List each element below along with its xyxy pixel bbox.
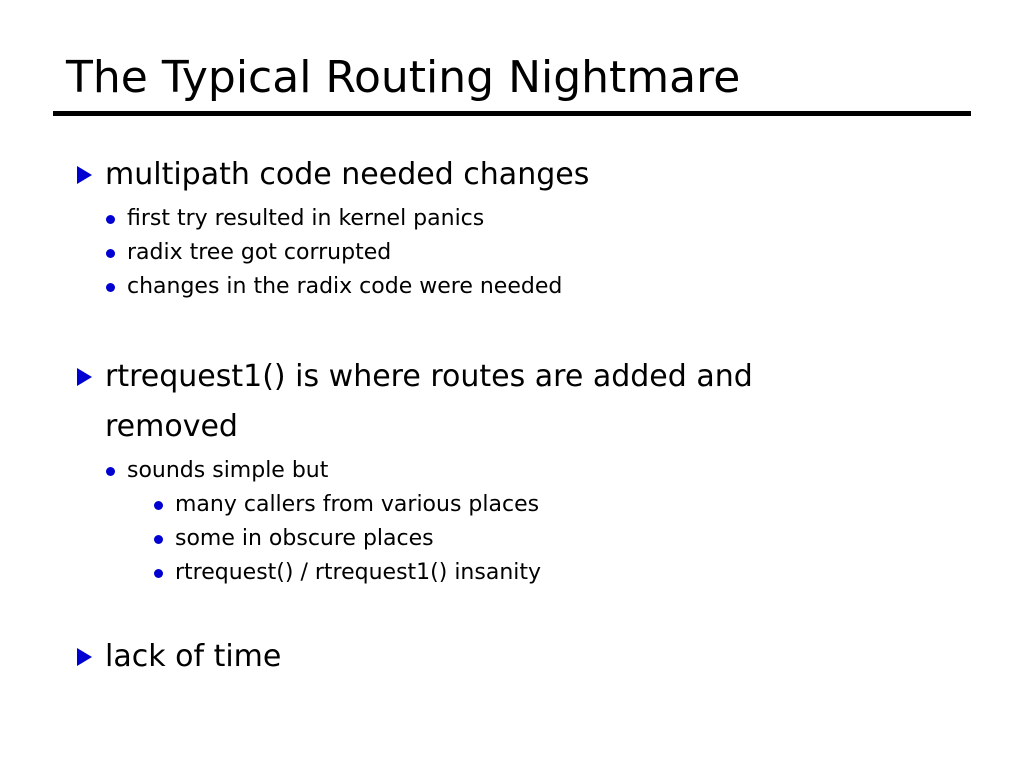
dot-bullet-icon (106, 215, 115, 224)
bullet-block: rtrequest1() is where routes are added a… (0, 352, 1024, 590)
triangle-right-bullet-icon (77, 648, 92, 666)
bullet-level2-label: radix tree got corrupted (127, 240, 391, 265)
bullet-level2: changes in the radix code were needed (0, 270, 1024, 304)
triangle-right-bullet-icon (77, 368, 92, 386)
bullet-level2: radix tree got corrupted (0, 236, 1024, 270)
bullet-level2-label: changes in the radix code were needed (127, 274, 562, 299)
bullet-level2: first try resulted in kernel panics (0, 202, 1024, 236)
dot-bullet-icon (154, 501, 163, 510)
bullet-level1-label: rtrequest1() is where routes are added a… (105, 352, 865, 452)
bullet-sublist: sounds simple but many callers from vari… (0, 454, 1024, 590)
page-title: The Typical Routing Nightmare (66, 50, 740, 106)
block-spacer (0, 590, 1024, 632)
slide-canvas: The Typical Routing Nightmare multipath … (0, 0, 1024, 768)
bullet-level1: lack of time (0, 632, 865, 682)
bullet-level3-label: some in obscure places (175, 526, 434, 551)
dot-bullet-icon (106, 283, 115, 292)
dot-bullet-icon (106, 467, 115, 476)
bullet-level1-label: multipath code needed changes (105, 150, 865, 200)
bullet-level1-label: lack of time (105, 632, 865, 682)
slide-body: multipath code needed changes first try … (0, 150, 1024, 682)
triangle-right-bullet-icon (77, 166, 92, 184)
bullet-level3: rtrequest() / rtrequest1() insanity (0, 556, 1024, 590)
bullet-block: multipath code needed changes first try … (0, 150, 1024, 304)
block-spacer (0, 304, 1024, 352)
bullet-sublist: first try resulted in kernel panics radi… (0, 202, 1024, 304)
bullet-level1: rtrequest1() is where routes are added a… (0, 352, 865, 452)
bullet-level1: multipath code needed changes (0, 150, 865, 200)
bullet-block: lack of time (0, 632, 1024, 682)
bullet-level3: some in obscure places (0, 522, 1024, 556)
bullet-level2: sounds simple but (0, 454, 1024, 488)
bullet-level3-label: rtrequest() / rtrequest1() insanity (175, 560, 541, 585)
dot-bullet-icon (154, 535, 163, 544)
title-underline-rule (53, 111, 971, 116)
dot-bullet-icon (106, 249, 115, 258)
bullet-level3-label: many callers from various places (175, 492, 539, 517)
dot-bullet-icon (154, 569, 163, 578)
bullet-level2-label: first try resulted in kernel panics (127, 206, 484, 231)
bullet-level2-label: sounds simple but (127, 458, 328, 483)
bullet-level3: many callers from various places (0, 488, 1024, 522)
